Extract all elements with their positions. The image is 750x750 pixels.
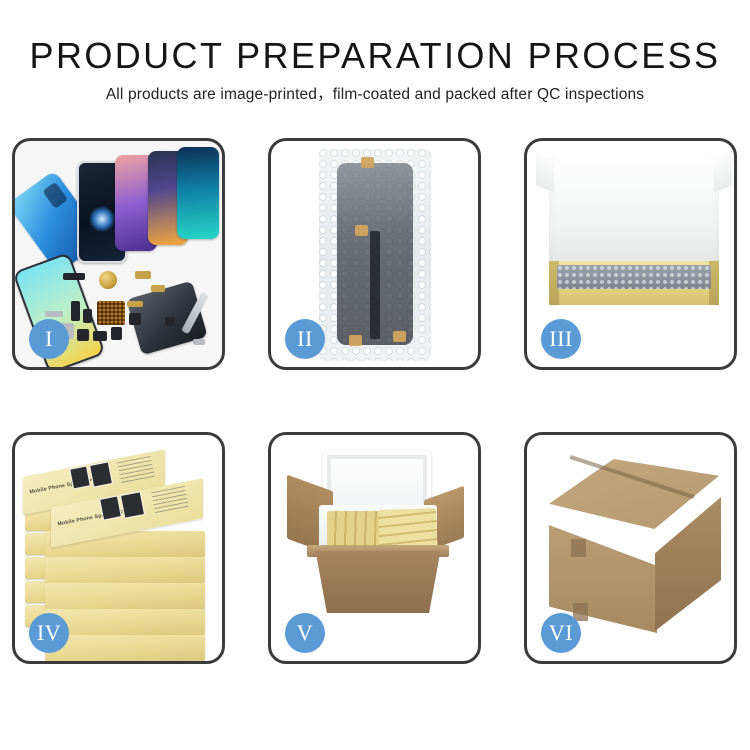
step-badge-5: V: [285, 613, 325, 653]
adhesive-tape: [349, 335, 362, 346]
process-step-grid: I II III: [12, 138, 738, 688]
spare-part-chip: [151, 285, 165, 292]
adhesive-tape: [361, 157, 374, 168]
lid-window: [99, 495, 122, 520]
process-step-panel-5[interactable]: V: [268, 432, 481, 664]
page-subtitle: All products are image-printed，film-coat…: [0, 84, 750, 106]
spare-part-chip: [165, 317, 175, 326]
product-preparation-process-page: PRODUCT PREPARATION PROCESS All products…: [0, 0, 750, 750]
process-step-panel-2[interactable]: II: [268, 138, 481, 370]
page-header: PRODUCT PREPARATION PROCESS All products…: [0, 34, 750, 106]
step-badge-3: III: [541, 319, 581, 359]
spare-part-chip: [83, 309, 92, 323]
bubble-padding-fill: [557, 265, 711, 289]
stacked-box: [45, 583, 205, 609]
connector-grid-part: [97, 301, 125, 325]
step-badge-4: IV: [29, 613, 69, 653]
lid-window: [69, 465, 91, 489]
foam-lid: [323, 451, 431, 513]
phone-teal: [177, 147, 219, 239]
page-title: PRODUCT PREPARATION PROCESS: [0, 34, 750, 78]
spare-part-chip: [45, 311, 63, 317]
spare-part-chip: [135, 271, 151, 279]
process-step-panel-6[interactable]: VI: [524, 432, 737, 664]
carton-body: [307, 551, 449, 613]
lid-window: [89, 461, 113, 487]
stacked-box: [45, 609, 205, 635]
flex-cable: [370, 231, 380, 339]
adhesive-tape: [355, 225, 368, 236]
white-foam-lid: [549, 157, 719, 273]
spare-part-chip: [93, 331, 107, 341]
lid-window: [120, 491, 145, 519]
spare-part-chip: [71, 301, 80, 321]
step-badge-1: I: [29, 319, 69, 359]
bubble-wrap-bag: [319, 149, 431, 361]
carton-tape-mark: [571, 539, 586, 557]
step-badge-6: VI: [541, 613, 581, 653]
vibration-motor-part: [99, 271, 117, 289]
spare-part-chip: [63, 273, 85, 280]
spare-part-chip: [129, 313, 141, 325]
process-step-panel-4[interactable]: Mobile Phone Spare Parts Mobile Phone Sp…: [12, 432, 225, 664]
stacked-box: [45, 635, 205, 661]
spare-part-chip: [193, 339, 205, 345]
spare-part-chip: [111, 327, 122, 340]
process-step-panel-3[interactable]: III: [524, 138, 737, 370]
spare-part-chip: [127, 301, 143, 307]
process-step-panel-1[interactable]: I: [12, 138, 225, 370]
step-badge-2: II: [285, 319, 325, 359]
spare-part-chip: [77, 329, 89, 341]
stacked-box: [45, 557, 205, 583]
adhesive-tape: [393, 331, 406, 342]
